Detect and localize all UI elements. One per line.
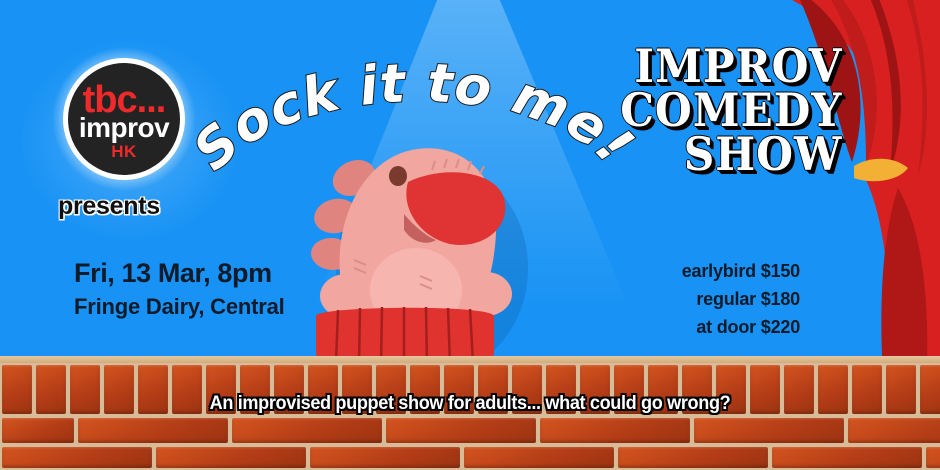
event-venue: Fringe Dairy, Central <box>74 294 285 320</box>
show-title-line-2: COMEDY <box>620 88 842 132</box>
price-earlybird: earlybird $150 <box>682 258 800 286</box>
show-title: IMPROV COMEDY SHOW <box>620 44 842 176</box>
brick <box>694 418 844 443</box>
show-title-line-3: SHOW <box>620 132 842 176</box>
brick <box>926 447 940 468</box>
logo-text-hk: HK <box>111 143 137 160</box>
brick <box>78 418 228 443</box>
brick <box>848 418 940 443</box>
tbc-improv-logo: tbc... improv HK <box>62 57 186 181</box>
puppet-mouth <box>404 172 505 245</box>
brick <box>540 418 690 443</box>
brick <box>310 447 460 468</box>
event-date: Fri, 13 Mar, 8pm <box>74 258 272 289</box>
logo-disc: tbc... improv HK <box>68 63 180 175</box>
brick <box>2 365 32 414</box>
brick <box>232 418 382 443</box>
logo-text-improv: improv <box>79 114 169 142</box>
ticket-prices: earlybird $150 regular $180 at door $220 <box>682 258 800 342</box>
puppet-eye <box>389 166 407 186</box>
brick-wall: An improvised puppet show for adults... … <box>0 356 940 470</box>
sock-puppet-illustration <box>280 118 550 383</box>
price-at-door: at door $220 <box>682 314 800 342</box>
event-poster: tbc... improv HK presents Fri, 13 Mar, 8… <box>0 0 940 470</box>
presents-label: presents <box>58 192 160 221</box>
brick <box>156 447 306 468</box>
wall-cap <box>0 356 940 363</box>
brick <box>920 365 940 414</box>
brick <box>2 418 74 443</box>
tagline: An improvised puppet show for adults... … <box>33 392 907 415</box>
brick <box>772 447 922 468</box>
show-title-line-1: IMPROV <box>620 44 842 88</box>
price-regular: regular $180 <box>682 286 800 314</box>
brick <box>618 447 768 468</box>
brick-course-1 <box>0 416 940 445</box>
brick <box>2 447 152 468</box>
brick-course-2 <box>0 445 940 470</box>
brick <box>386 418 536 443</box>
brick <box>464 447 614 468</box>
